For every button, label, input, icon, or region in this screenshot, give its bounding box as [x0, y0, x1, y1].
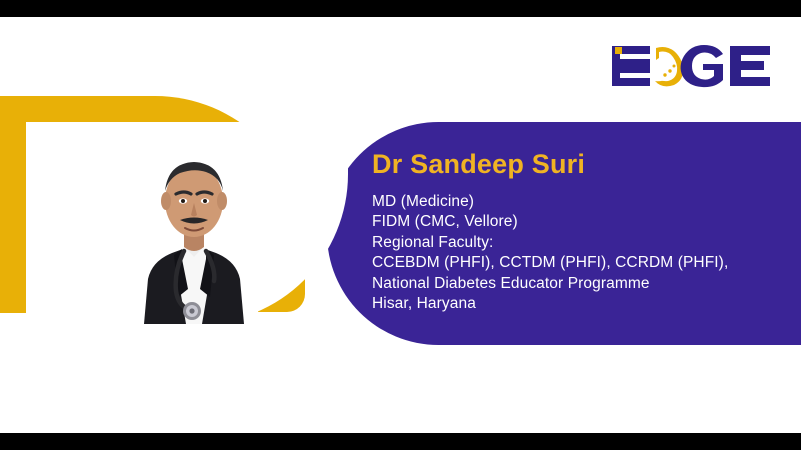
slide-canvas: Dr Sandeep Suri MD (Medicine) FIDM (CMC,…: [0, 0, 801, 450]
credential-line-2: FIDM (CMC, Vellore): [372, 212, 787, 232]
credential-line-1: MD (Medicine): [372, 192, 787, 212]
letterbox-top: [0, 0, 801, 17]
credential-line-3: Regional Faculty:: [372, 233, 787, 253]
letterbox-bottom: [0, 433, 801, 450]
credential-line-5: National Diabetes Educator Programme: [372, 274, 787, 294]
credential-line-4: CCEBDM (PHFI), CCTDM (PHFI), CCRDM (PHFI…: [372, 253, 787, 273]
speaker-portrait: [130, 139, 258, 324]
edge-logo: [604, 42, 782, 90]
speaker-info: Dr Sandeep Suri MD (Medicine) FIDM (CMC,…: [372, 150, 787, 314]
credential-line-6: Hisar, Haryana: [372, 294, 787, 314]
speaker-name: Dr Sandeep Suri: [372, 150, 787, 180]
